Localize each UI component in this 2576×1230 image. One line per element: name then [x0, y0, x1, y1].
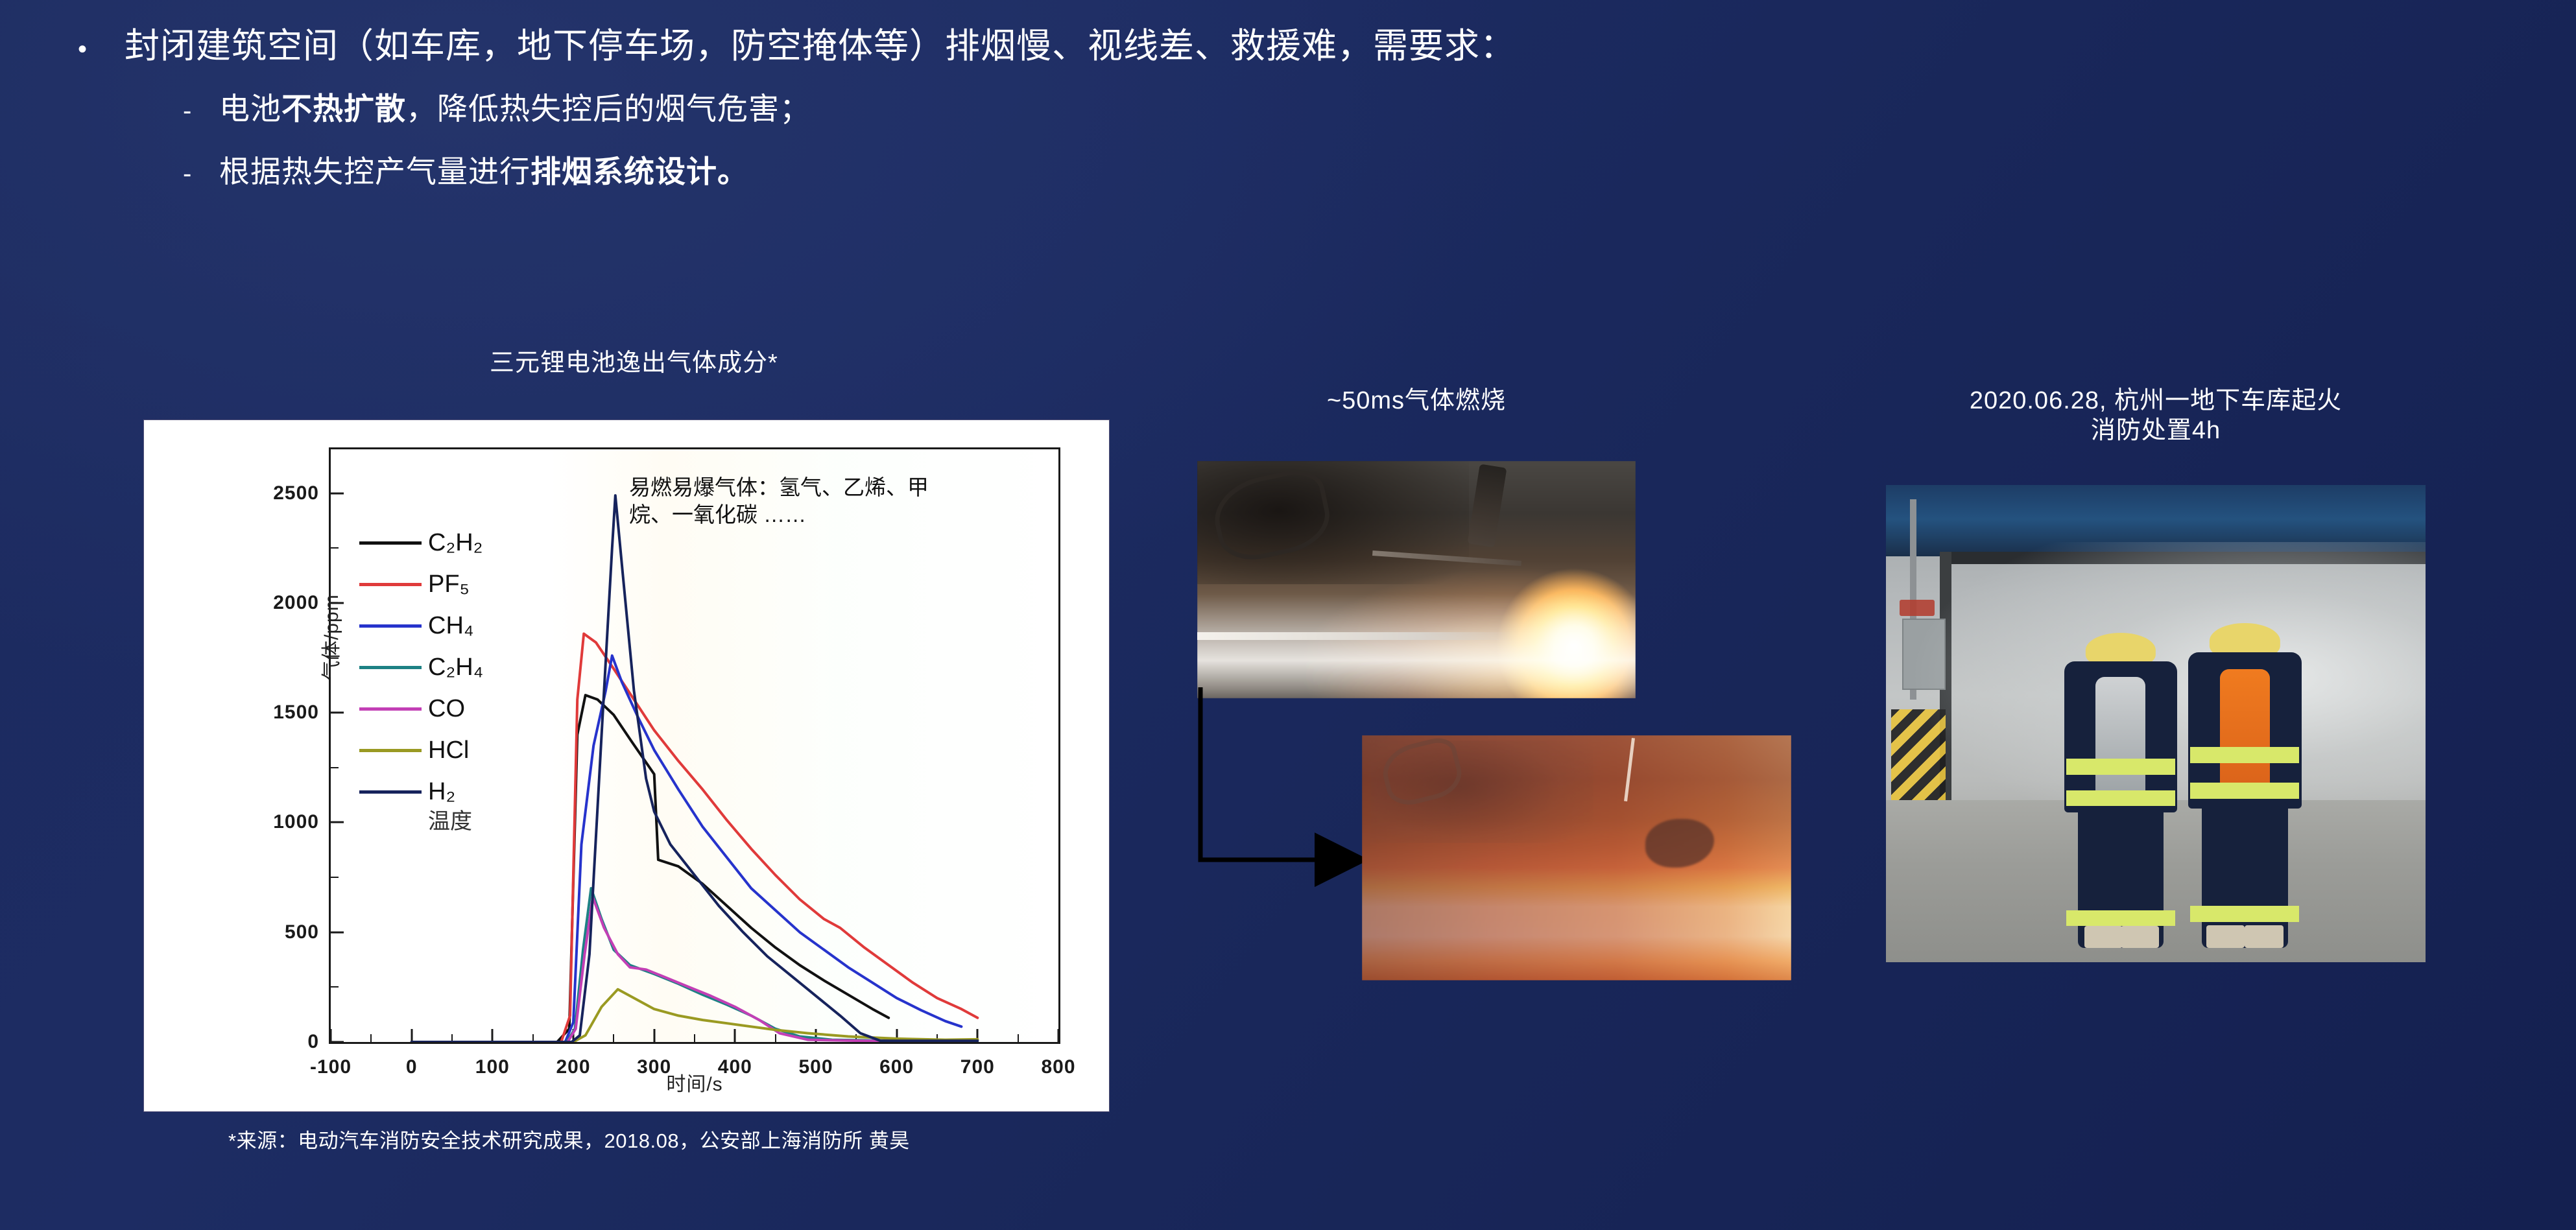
hangzhou-fire-caption-line1: 2020.06.28, 杭州一地下车库起火	[1868, 386, 2444, 416]
bullet-marker: -	[183, 98, 219, 124]
text-suffix: ，降低热失控后的烟气危害；	[406, 91, 811, 126]
chart-x-axis-label: 时间/s	[331, 1068, 1058, 1096]
bullet-level2-text-2: 根据热失控产气量进行排烟系统设计。	[219, 156, 748, 187]
chart-panel: 气体/ppm 时间/s 05001000150020002500-1000100…	[144, 420, 1109, 1111]
chart-legend-swatch	[359, 583, 422, 586]
bullet-level2-item-2: - 根据热失控产气量进行排烟系统设计。	[183, 156, 2283, 187]
chart-legend-swatch	[359, 749, 422, 752]
chart-x-tick-label: 500	[798, 1042, 833, 1078]
firefighter-reflective-stripe	[2190, 747, 2299, 763]
chart-x-tick-label: 700	[960, 1042, 995, 1078]
photo-firefighter-right	[2188, 623, 2302, 947]
bullet-level1-text: 封闭建筑空间（如车库，地下停车场，防空掩体等）排烟慢、视线差、救援难，需要求：	[125, 29, 1516, 64]
chart-legend-item-PF5: PF₅	[359, 563, 483, 605]
firefighter-reflective-stripe	[2190, 906, 2299, 922]
chart-y-tick-label: 1500	[273, 702, 331, 724]
bullet-level1: • 封闭建筑空间（如车库，地下停车场，防空掩体等）排烟慢、视线差、救援难，需要求…	[78, 29, 2283, 64]
chart-plot-area: 气体/ppm 时间/s 05001000150020002500-1000100…	[329, 447, 1060, 1044]
chart-y-tick-label: 2500	[273, 482, 331, 504]
chart-legend-label: H₂	[428, 778, 455, 806]
photo-burning-vehicle-underside	[1197, 461, 1636, 698]
firefighter-boot	[2121, 926, 2159, 948]
firefighter-boot	[2084, 926, 2123, 948]
chart-line-PF5	[412, 633, 978, 1042]
chart-legend-item-CH4: CH₄	[359, 605, 483, 646]
chart-x-tick-label: 400	[718, 1042, 752, 1078]
text-prefix: 电池	[219, 91, 281, 126]
chart-legend-label: PF₅	[428, 571, 470, 598]
chart-x-tick-label: 300	[637, 1042, 671, 1078]
chart-line-CH4	[412, 656, 962, 1042]
chart-x-tick-label: 600	[879, 1042, 914, 1078]
chart-title: 三元锂电池逸出气体成分*	[490, 342, 778, 378]
firefighter-reflective-stripe	[2066, 759, 2175, 774]
bullet-level2-item-1: - 电池不热扩散，降低热失控后的烟气危害；	[183, 93, 2283, 124]
chart-legend-swatch	[359, 707, 422, 711]
chart-annotation: 易燃易爆气体：氢气、乙烯、甲烷、一氧化碳 ……	[629, 474, 934, 528]
chart-source-caption: *来源：电动汽车消防安全技术研究成果，2018.08，公安部上海消防所 黄昊	[228, 1124, 910, 1153]
chart-legend-label: HCl	[428, 737, 469, 764]
chart-x-tick-label: 100	[475, 1042, 510, 1078]
chart-legend-item-HCl: HCl	[359, 729, 483, 771]
gas-burn-caption: ~50ms气体燃烧	[1197, 386, 1636, 416]
photo-firefighters-in-smoky-garage	[1886, 485, 2426, 962]
chart-legend-item-C2H4: C₂H₄	[359, 646, 483, 688]
chart-line-H2	[412, 495, 978, 1042]
bullet-marker: -	[183, 161, 219, 187]
chart-legend-item-CO: CO	[359, 688, 483, 729]
chart-line-HCl	[412, 989, 978, 1042]
bullet-level2-text-1: 电池不热扩散，降低热失控后的烟气危害；	[219, 93, 811, 124]
chart-x-tick-label: 200	[556, 1042, 590, 1078]
firefighter-boot	[2245, 925, 2283, 948]
chart-legend-label: CH₄	[428, 612, 473, 640]
chart-legend-swatch	[359, 666, 422, 669]
photo-rail-detail	[1197, 632, 1513, 640]
chart-legend-label: C₂H₄	[428, 654, 483, 681]
text-emphasis: 不热扩散	[281, 91, 406, 126]
chart-legend-swatch	[359, 624, 422, 628]
photo-firefighter-left	[2064, 633, 2178, 948]
chart-y-tick-label: 1000	[273, 811, 331, 833]
chart-legend-swatch	[359, 541, 422, 545]
firefighter-air-tank	[2095, 677, 2145, 803]
chart-y-tick-label: 2000	[273, 592, 331, 614]
chart-legend-label: CO	[428, 695, 465, 723]
firefighter-reflective-stripe	[2066, 910, 2175, 926]
text-emphasis: 排烟系统设计。	[531, 154, 748, 189]
chart-legend-item-C2H2: C₂H₂	[359, 522, 483, 563]
chart-legend-swatch	[359, 790, 422, 794]
firefighter-reflective-stripe	[2190, 783, 2299, 799]
firefighter-reflective-stripe	[2066, 790, 2175, 806]
hangzhou-fire-caption: 2020.06.28, 杭州一地下车库起火 消防处置4h	[1868, 386, 2444, 446]
chart-legend-extra-label: 温度	[428, 803, 483, 835]
hangzhou-fire-caption-line2: 消防处置4h	[1868, 416, 2444, 445]
chart-legend: C₂H₂PF₅CH₄C₂H₄COHClH₂温度	[359, 522, 483, 835]
chart-x-tick-label: -100	[310, 1042, 352, 1078]
chart-x-tick-label: 0	[406, 1042, 418, 1078]
bullet-marker: •	[78, 36, 125, 62]
text-prefix: 根据热失控产气量进行	[219, 154, 531, 189]
bullet-list: • 封闭建筑空间（如车库，地下停车场，防空掩体等）排烟慢、视线差、救援难，需要求…	[78, 29, 2283, 187]
chart-line-CO	[412, 897, 946, 1042]
chart-y-tick-label: 500	[285, 921, 331, 943]
photo-burning-vehicle-underside-zoom	[1362, 735, 1791, 980]
firefighter-boot	[2206, 925, 2245, 948]
chart-legend-label: C₂H₂	[428, 529, 483, 557]
chart-x-tick-label: 800	[1041, 1042, 1075, 1078]
firefighter-air-tank	[2220, 669, 2270, 799]
